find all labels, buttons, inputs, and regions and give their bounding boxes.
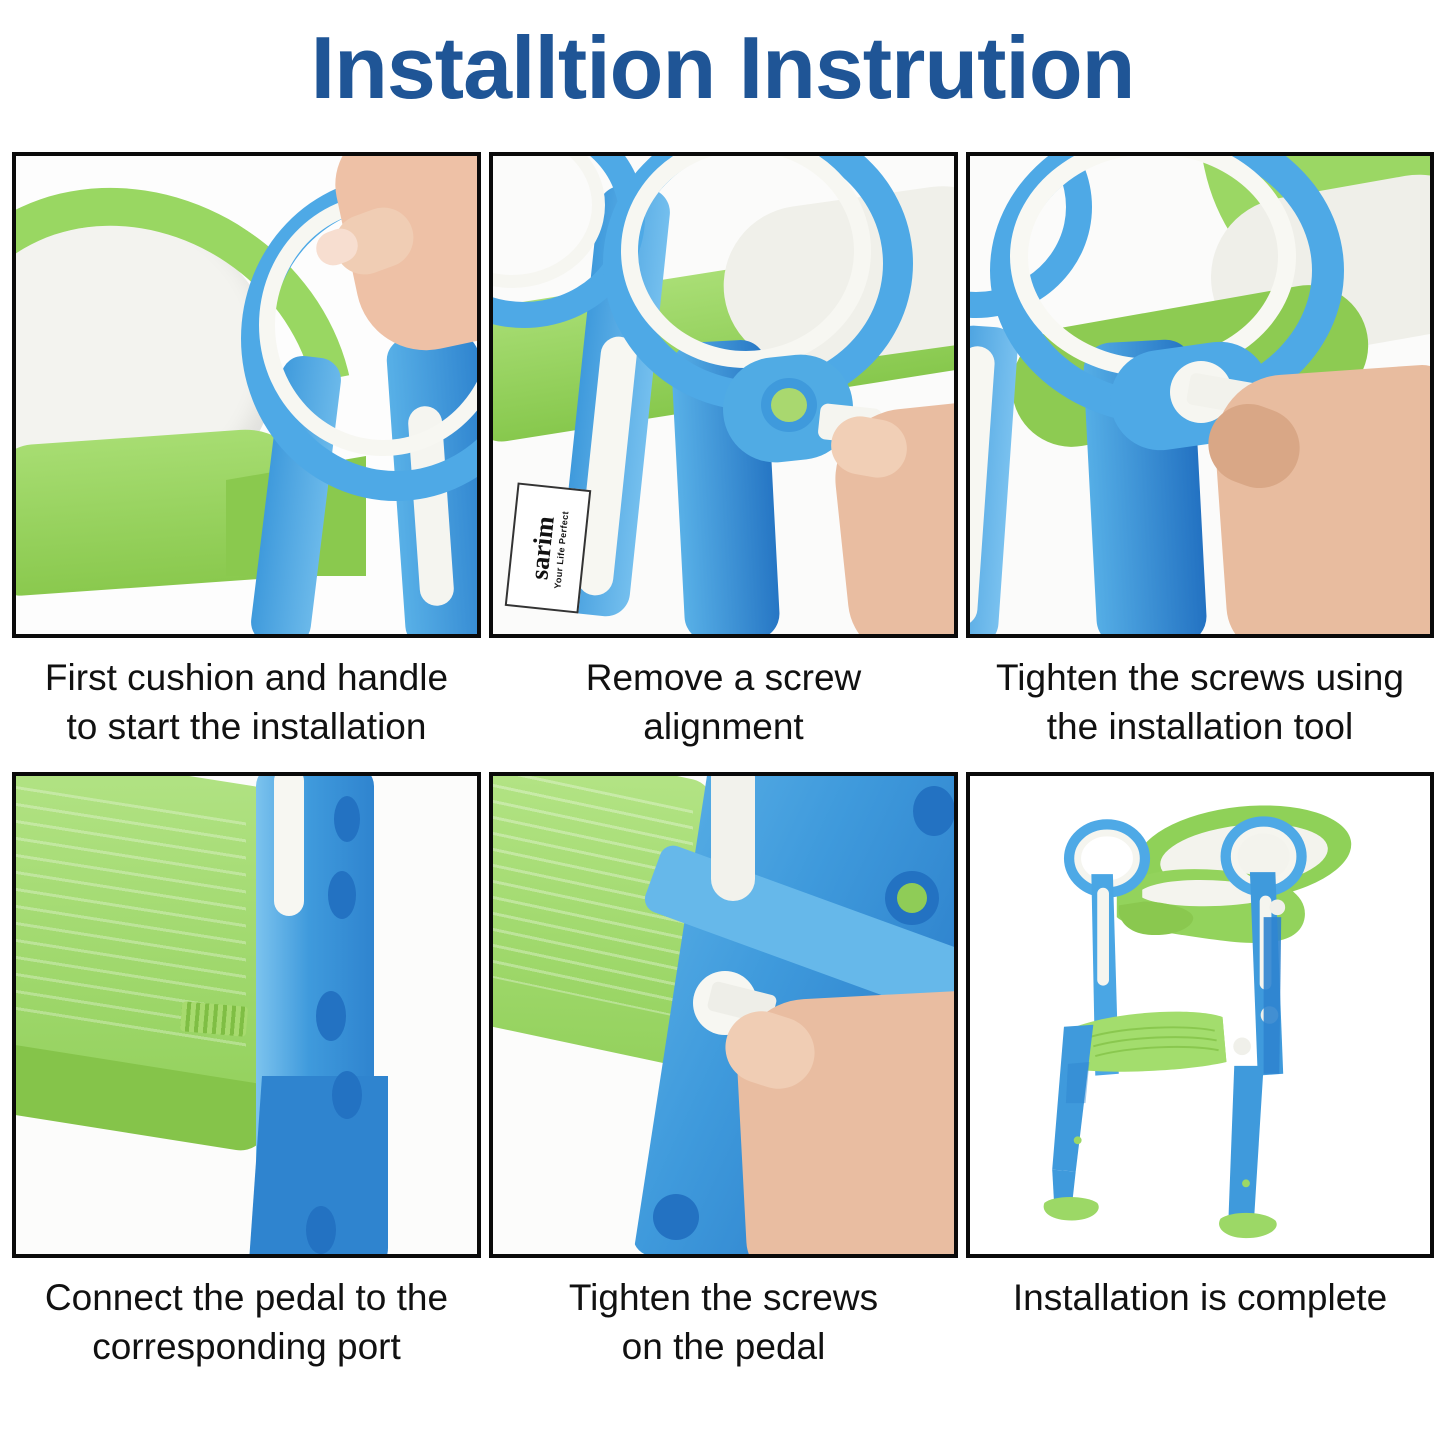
step-caption-3-line1: Tighten the screws using	[996, 657, 1404, 698]
ladder-white-strip	[711, 772, 755, 901]
step-caption-4: Connect the pedal to the corresponding p…	[12, 1274, 481, 1392]
ladder-port-hole	[316, 991, 346, 1041]
pedal-port-green-post	[897, 883, 927, 913]
step-caption-5-line2: on the pedal	[489, 1323, 958, 1372]
ladder-leg-white-strip	[274, 772, 304, 916]
step-caption-1: First cushion and handle to start the in…	[12, 654, 481, 772]
step-caption-5-line1: Tighten the screws	[569, 1277, 878, 1318]
step-image-3	[966, 152, 1434, 638]
brand-label-text: sarim Your Life Perfect	[526, 507, 571, 589]
step-image-2: sarim Your Life Perfect	[489, 152, 958, 638]
ladder-port-hole	[653, 1194, 699, 1240]
ladder-port-hole	[306, 1206, 336, 1254]
installation-instruction-page: Installtion Instrution First cushion an	[0, 0, 1445, 1445]
step-cell-1: First cushion and handle to start the in…	[8, 152, 485, 772]
brand-label: sarim Your Life Perfect	[505, 482, 592, 613]
step-cell-3: Tighten the screws using the installatio…	[962, 152, 1438, 772]
step-caption-2-line2: alignment	[489, 703, 958, 752]
step-caption-2: Remove a screw alignment	[489, 654, 958, 772]
step-caption-5: Tighten the screws on the pedal	[489, 1274, 958, 1392]
steps-grid: First cushion and handle to start the in…	[8, 152, 1438, 1392]
page-title: Installtion Instrution	[0, 22, 1445, 114]
assembled-product-illustration	[970, 776, 1430, 1254]
step-image-6	[966, 772, 1434, 1258]
step-caption-1-line1: First cushion and handle	[45, 657, 448, 698]
screw-cap-green	[771, 388, 807, 422]
step-caption-1-line2: to start the installation	[12, 703, 481, 752]
step-image-1	[12, 152, 481, 638]
ladder-port-hole	[913, 786, 955, 836]
step-cell-6: Installation is complete	[962, 772, 1438, 1392]
pedal-threaded-post	[180, 1001, 248, 1037]
step-caption-4-line1: Connect the pedal to the	[45, 1277, 448, 1318]
step-caption-3: Tighten the screws using the installatio…	[966, 654, 1434, 772]
step-image-5	[489, 772, 958, 1258]
step-caption-3-line2: the installation tool	[966, 703, 1434, 752]
step-caption-4-line2: corresponding port	[12, 1323, 481, 1372]
step-cell-4: Connect the pedal to the corresponding p…	[8, 772, 485, 1392]
step-caption-6-line1: Installation is complete	[1013, 1277, 1387, 1318]
step-cell-5: Tighten the screws on the pedal	[485, 772, 962, 1392]
step-caption-2-line1: Remove a screw	[586, 657, 862, 698]
step-caption-6: Installation is complete	[966, 1274, 1434, 1392]
ladder-port-hole	[328, 871, 356, 919]
step-image-4	[12, 772, 481, 1258]
ladder-port-hole	[332, 1071, 362, 1119]
ladder-port-hole	[334, 796, 360, 842]
step-cell-2: sarim Your Life Perfect Remove a screw a…	[485, 152, 962, 772]
